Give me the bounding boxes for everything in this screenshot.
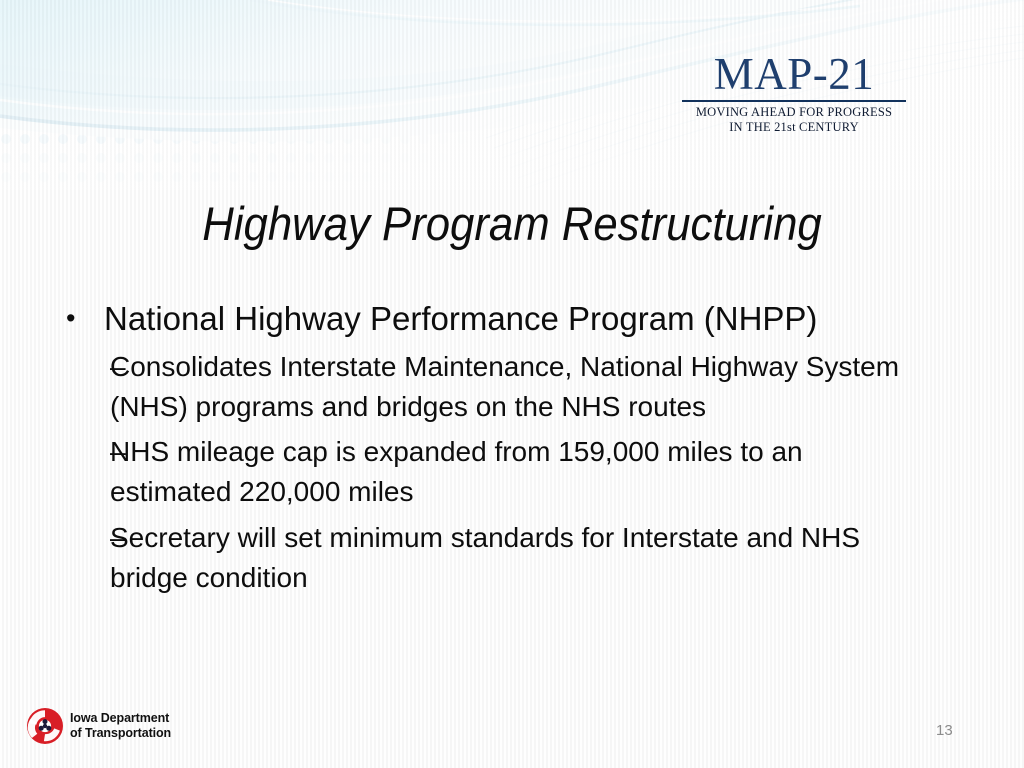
bullet-text: National Highway Performance Program (NH… bbox=[104, 300, 958, 339]
slide: MAP-21 MOVING AHEAD FOR PROGRESS IN THE … bbox=[0, 0, 1024, 768]
sub-bullet-text: Consolidates Interstate Maintenance, Nat… bbox=[110, 347, 900, 427]
list-item: • National Highway Performance Program (… bbox=[58, 300, 958, 339]
map21-logo: MAP-21 MOVING AHEAD FOR PROGRESS IN THE … bbox=[676, 52, 912, 136]
page-number: 13 bbox=[936, 722, 953, 739]
sub-bullet-marker: – bbox=[58, 518, 110, 558]
agency-name-line1: Iowa Department bbox=[70, 711, 171, 726]
agency-name-line2: of Transportation bbox=[70, 726, 171, 741]
sub-bullet-marker: – bbox=[58, 347, 110, 387]
map21-tagline-line1: MOVING AHEAD FOR PROGRESS bbox=[676, 105, 912, 120]
map21-tagline-line2: IN THE 21st CENTURY bbox=[676, 120, 912, 135]
bullet-marker: • bbox=[58, 300, 104, 336]
page-title: Highway Program Restructuring bbox=[36, 196, 988, 251]
sub-bullet-marker: – bbox=[58, 432, 110, 472]
iowa-dot-logo-text: Iowa Department of Transportation bbox=[70, 711, 171, 741]
iowa-dot-emblem-icon bbox=[26, 707, 64, 745]
sub-bullet-text: NHS mileage cap is expanded from 159,000… bbox=[110, 432, 900, 512]
sub-bullet-list: – Consolidates Interstate Maintenance, N… bbox=[58, 347, 958, 598]
list-item: – Consolidates Interstate Maintenance, N… bbox=[58, 347, 958, 427]
iowa-dot-logo: Iowa Department of Transportation bbox=[26, 707, 171, 745]
list-item: – NHS mileage cap is expanded from 159,0… bbox=[58, 432, 958, 512]
list-item: – Secretary will set minimum standards f… bbox=[58, 518, 958, 598]
map21-wordmark: MAP-21 bbox=[676, 52, 912, 99]
sub-bullet-text: Secretary will set minimum standards for… bbox=[110, 518, 900, 598]
map21-divider bbox=[682, 100, 906, 102]
content-body: • National Highway Performance Program (… bbox=[58, 300, 958, 603]
